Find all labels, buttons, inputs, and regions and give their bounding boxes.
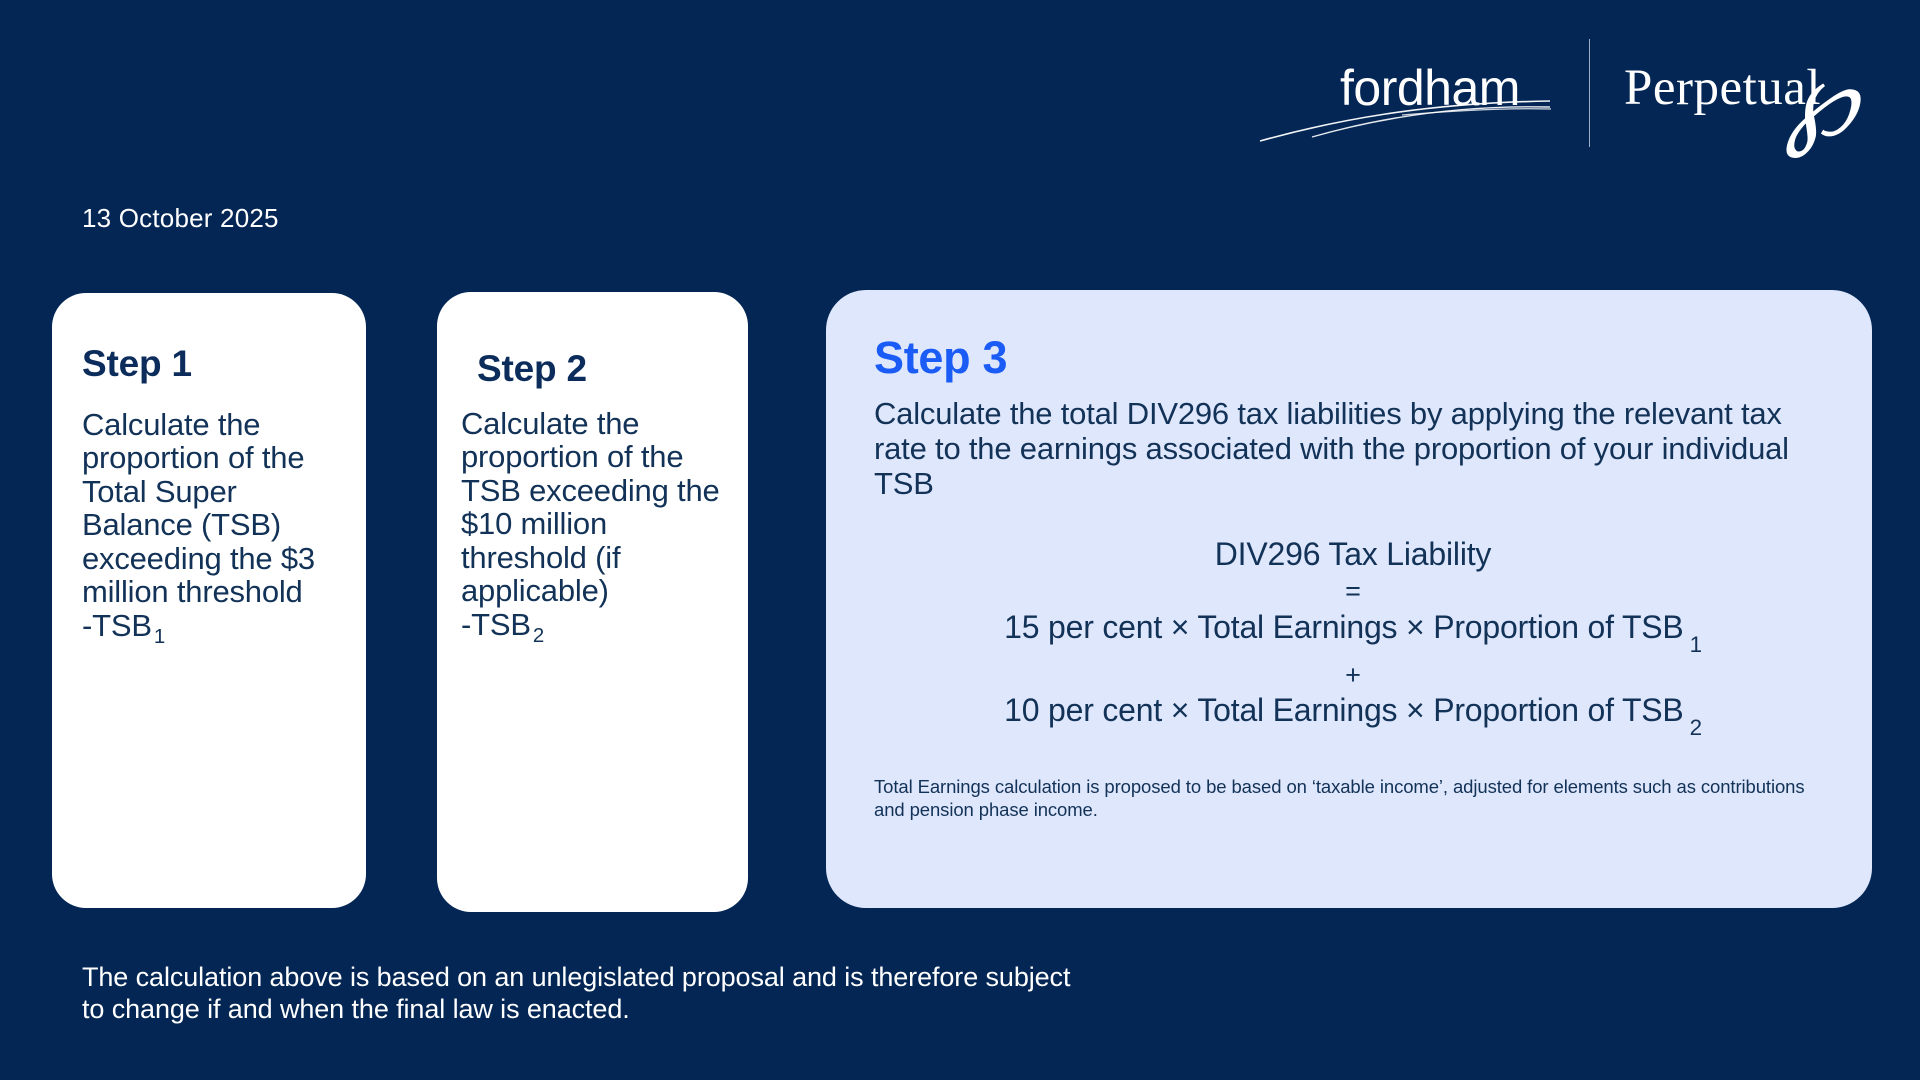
step-2-variable: -TSB [461, 607, 531, 642]
step-3-footnote: Total Earnings calculation is proposed t… [874, 776, 1832, 821]
formula-plus-sign: + [874, 657, 1832, 693]
step-1-title: Step 1 [82, 345, 342, 384]
brand-logo-bar: fordham Perpetual ℘ [1330, 38, 1864, 148]
fordham-wordmark: fordham [1340, 63, 1520, 113]
perpetual-logo: Perpetual ℘ [1624, 43, 1864, 143]
step-1-body-text: Calculate the proportion of the Total Su… [82, 407, 315, 609]
step-2-variable-subscript: 2 [531, 624, 544, 647]
formula-term-1: 15 per cent × Total Earnings × Proportio… [874, 610, 1832, 657]
slide-root: fordham Perpetual ℘ 13 October 2025 Step… [0, 0, 1920, 1080]
formula-result-label: DIV296 Tax Liability [874, 537, 1832, 573]
formula-term-2-subscript: 2 [1684, 715, 1702, 740]
step-2-body-text: Calculate the proportion of the TSB exce… [461, 406, 720, 608]
formula-equals-sign: = [874, 573, 1832, 609]
step-3-card: Step 3 Calculate the total DIV296 tax li… [826, 290, 1872, 908]
step-1-card: Step 1 Calculate the proportion of the T… [52, 293, 366, 908]
step-3-title: Step 3 [874, 334, 1832, 381]
step-3-body: Calculate the total DIV296 tax liabiliti… [874, 397, 1832, 501]
logo-divider [1589, 39, 1590, 147]
step-2-body: Calculate the proportion of the TSB exce… [461, 407, 728, 648]
step-1-variable-subscript: 1 [152, 625, 165, 648]
step-1-variable: -TSB [82, 608, 152, 643]
formula-term-2: 10 per cent × Total Earnings × Proportio… [874, 693, 1832, 740]
formula-term-1-text: 15 per cent × Total Earnings × Proportio… [1004, 609, 1683, 645]
div296-formula: DIV296 Tax Liability = 15 per cent × Tot… [874, 537, 1832, 740]
slide-date: 13 October 2025 [82, 205, 279, 231]
formula-term-1-subscript: 1 [1684, 632, 1702, 657]
step-1-body: Calculate the proportion of the Total Su… [82, 408, 342, 649]
slide-disclaimer: The calculation above is based on an unl… [82, 962, 1082, 1026]
step-2-card: Step 2 Calculate the proportion of the T… [437, 292, 748, 912]
fordham-logo: fordham [1330, 45, 1545, 141]
step-2-title: Step 2 [477, 350, 728, 389]
formula-term-2-text: 10 per cent × Total Earnings × Proportio… [1004, 692, 1683, 728]
perpetual-monogram-icon: ℘ [1784, 49, 1857, 153]
